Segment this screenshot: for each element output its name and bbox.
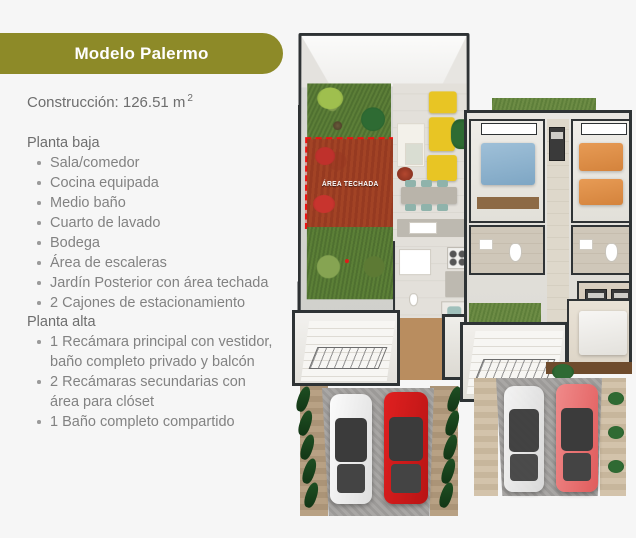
square-meters-superscript: 2: [187, 93, 193, 104]
shrub-icon: [608, 460, 624, 473]
toilet-icon: [509, 243, 522, 262]
dining-table: [401, 187, 457, 204]
area-techada-overlay: ÁREA TECHADA: [305, 137, 395, 229]
master-suite-lower: [567, 299, 632, 369]
hallway-floor: [400, 318, 444, 380]
dining-chair: [405, 204, 416, 211]
car-windshield: [389, 417, 422, 462]
dining-chair: [437, 204, 448, 211]
secondary-bedrooms: [571, 119, 632, 223]
model-title-label: Modelo Palermo: [74, 44, 208, 64]
garage-area: [474, 378, 636, 498]
garage-area: [296, 380, 472, 518]
car-white-icon: [504, 386, 544, 492]
coffee-table: [405, 143, 423, 165]
ceiling-bevel: [301, 36, 466, 88]
specifications-body: Planta baja Sala/comedor Cocina equipada…: [27, 134, 277, 432]
dining-chair: [421, 204, 432, 211]
section-heading-planta-baja: Planta baja: [27, 134, 277, 152]
list-item: 1 Recámara principal con vestidor, baño …: [27, 332, 277, 372]
spec-list-planta-baja: Sala/comedor Cocina equipada Medio baño …: [27, 153, 277, 313]
list-item: Área de escaleras: [27, 253, 277, 273]
list-item: 2 Recámaras secundarias con área para cl…: [27, 372, 277, 412]
stairs-module: [292, 310, 400, 386]
laundry-sink-icon: [399, 249, 431, 275]
area-techada-label: ÁREA TECHADA: [322, 179, 379, 188]
car-red-icon: [384, 392, 428, 504]
model-info-card: Modelo Palermo Construcción: 126.51 m2 P…: [0, 0, 636, 538]
car-rear-window: [391, 464, 421, 493]
car-red-icon: [556, 384, 598, 492]
dining-chair: [405, 180, 416, 187]
list-item: 2 Cajones de estacionamiento: [27, 293, 277, 313]
car-windshield: [335, 418, 367, 462]
shrub-icon: [333, 121, 342, 130]
construction-area-line: Construcción: 126.51 m2: [27, 93, 193, 111]
toilet-icon: [409, 293, 418, 306]
window-icon: [481, 123, 537, 135]
list-item: 1 Baño completo compartido: [27, 412, 277, 432]
stair-railing: [309, 347, 388, 369]
ground-floor-plan-image: ÁREA TECHADA: [292, 32, 476, 492]
bush-icon: [317, 87, 343, 109]
bed-icon: [481, 143, 535, 185]
shrub-icon: [608, 426, 624, 439]
sofa-icon: [427, 155, 457, 181]
marker-dot-icon: [345, 259, 349, 263]
shrub-icon: [608, 392, 624, 405]
toilet-icon: [605, 243, 618, 262]
bath-sink-icon: [579, 239, 593, 250]
dresser-icon: [477, 197, 539, 209]
list-item: Jardín Posterior con área techada: [27, 273, 277, 293]
tree-icon: [361, 107, 385, 131]
dining-chair: [421, 180, 432, 187]
dining-chair: [437, 180, 448, 187]
car-rear-window: [337, 464, 366, 493]
bed-icon: [579, 179, 623, 205]
window-icon: [581, 123, 627, 135]
section-heading-planta-alta: Planta alta: [27, 313, 277, 331]
car-windshield: [509, 409, 539, 451]
car-rear-window: [563, 453, 592, 481]
bed-icon: [579, 143, 623, 171]
bath-sink-icon: [479, 239, 493, 250]
info-panel: Modelo Palermo Construcción: 126.51 m2 P…: [0, 0, 292, 538]
list-item: Cuarto de lavado: [27, 213, 277, 233]
car-windshield: [561, 408, 593, 451]
car-white-icon: [330, 394, 372, 504]
bed-icon: [579, 311, 627, 355]
sofa-icon: [429, 91, 457, 113]
construction-area-text: Construcción: 126.51 m: [27, 94, 185, 111]
list-item: Sala/comedor: [27, 153, 277, 173]
private-bathroom: [571, 225, 632, 275]
rear-garden-lower: [307, 227, 393, 299]
upper-floor-plan-image: [460, 110, 636, 492]
car-rear-window: [510, 454, 537, 482]
list-item: Medio baño: [27, 193, 277, 213]
shared-bathroom: [469, 225, 545, 275]
garage-planter-left: [474, 378, 498, 496]
potted-plant-icon: [397, 167, 413, 181]
closet-icon: [549, 127, 565, 161]
list-item: Bodega: [27, 233, 277, 253]
spec-list-planta-alta: 1 Recámara principal con vestidor, baño …: [27, 332, 277, 432]
floor-plan-renders: ÁREA TECHADA: [292, 0, 636, 538]
kitchen-sink-icon: [409, 222, 437, 234]
list-item: Cocina equipada: [27, 173, 277, 193]
master-bedroom: [469, 119, 545, 223]
model-title-badge: Modelo Palermo: [0, 33, 283, 74]
